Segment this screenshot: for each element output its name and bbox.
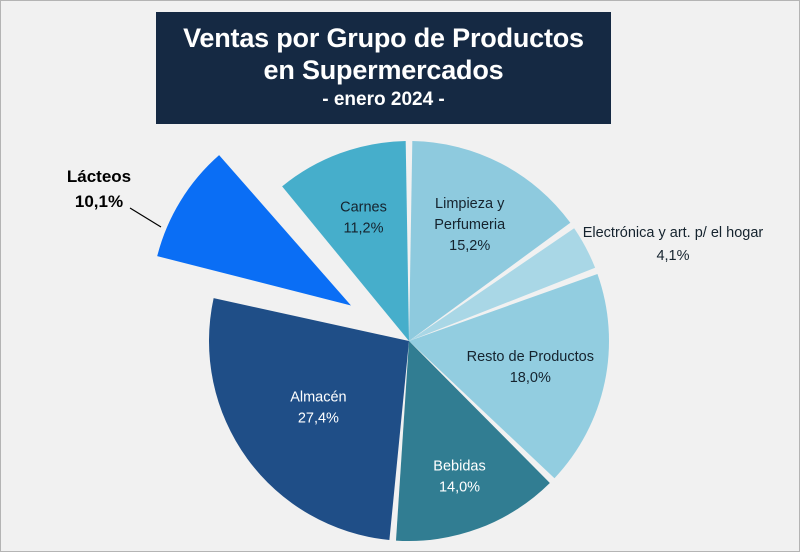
callout-electronica-value: 4,1% [656, 248, 689, 264]
slice-label-bebidas-name: Bebidas [433, 458, 485, 474]
pie-chart-figure: Ventas por Grupo de Productos en Superme… [0, 0, 800, 552]
slice-label-bebidas-value: 14,0% [439, 479, 480, 495]
callout-electronica: Electrónica y art. p/ el hogar 4,1% [583, 225, 764, 264]
callout-lacteos: Lácteos 10,1% [67, 167, 131, 211]
slice-label-limpieza-y-perfumeria-name: Perfumeria [434, 217, 506, 233]
slice-label-almacen-name: Almacén [290, 389, 346, 405]
leader-lines-group [130, 208, 161, 227]
slice-label-almacen-value: 27,4% [298, 410, 339, 426]
slice-label-resto-de-productos-value: 18,0% [510, 370, 551, 386]
callout-lacteos-name: Lácteos [67, 167, 131, 186]
slice-label-carnes-value: 11,2% [343, 221, 383, 237]
slice-label-resto-de-productos-name: Resto de Productos [467, 349, 594, 365]
slice-label-limpieza-y-perfumeria-name: Limpieza y [435, 196, 505, 212]
slice-label-carnes-name: Carnes [340, 200, 387, 216]
pie-slice-carnes[interactable] [282, 141, 409, 341]
slice-label-limpieza-y-perfumeria-value: 15,2% [449, 238, 490, 254]
lacteos-leader-line [130, 208, 161, 227]
pie-chart-svg: Limpieza yPerfumeria15,2%Resto de Produc… [1, 1, 800, 552]
callout-electronica-name: Electrónica y art. p/ el hogar [583, 225, 764, 241]
callout-lacteos-value: 10,1% [75, 192, 123, 211]
